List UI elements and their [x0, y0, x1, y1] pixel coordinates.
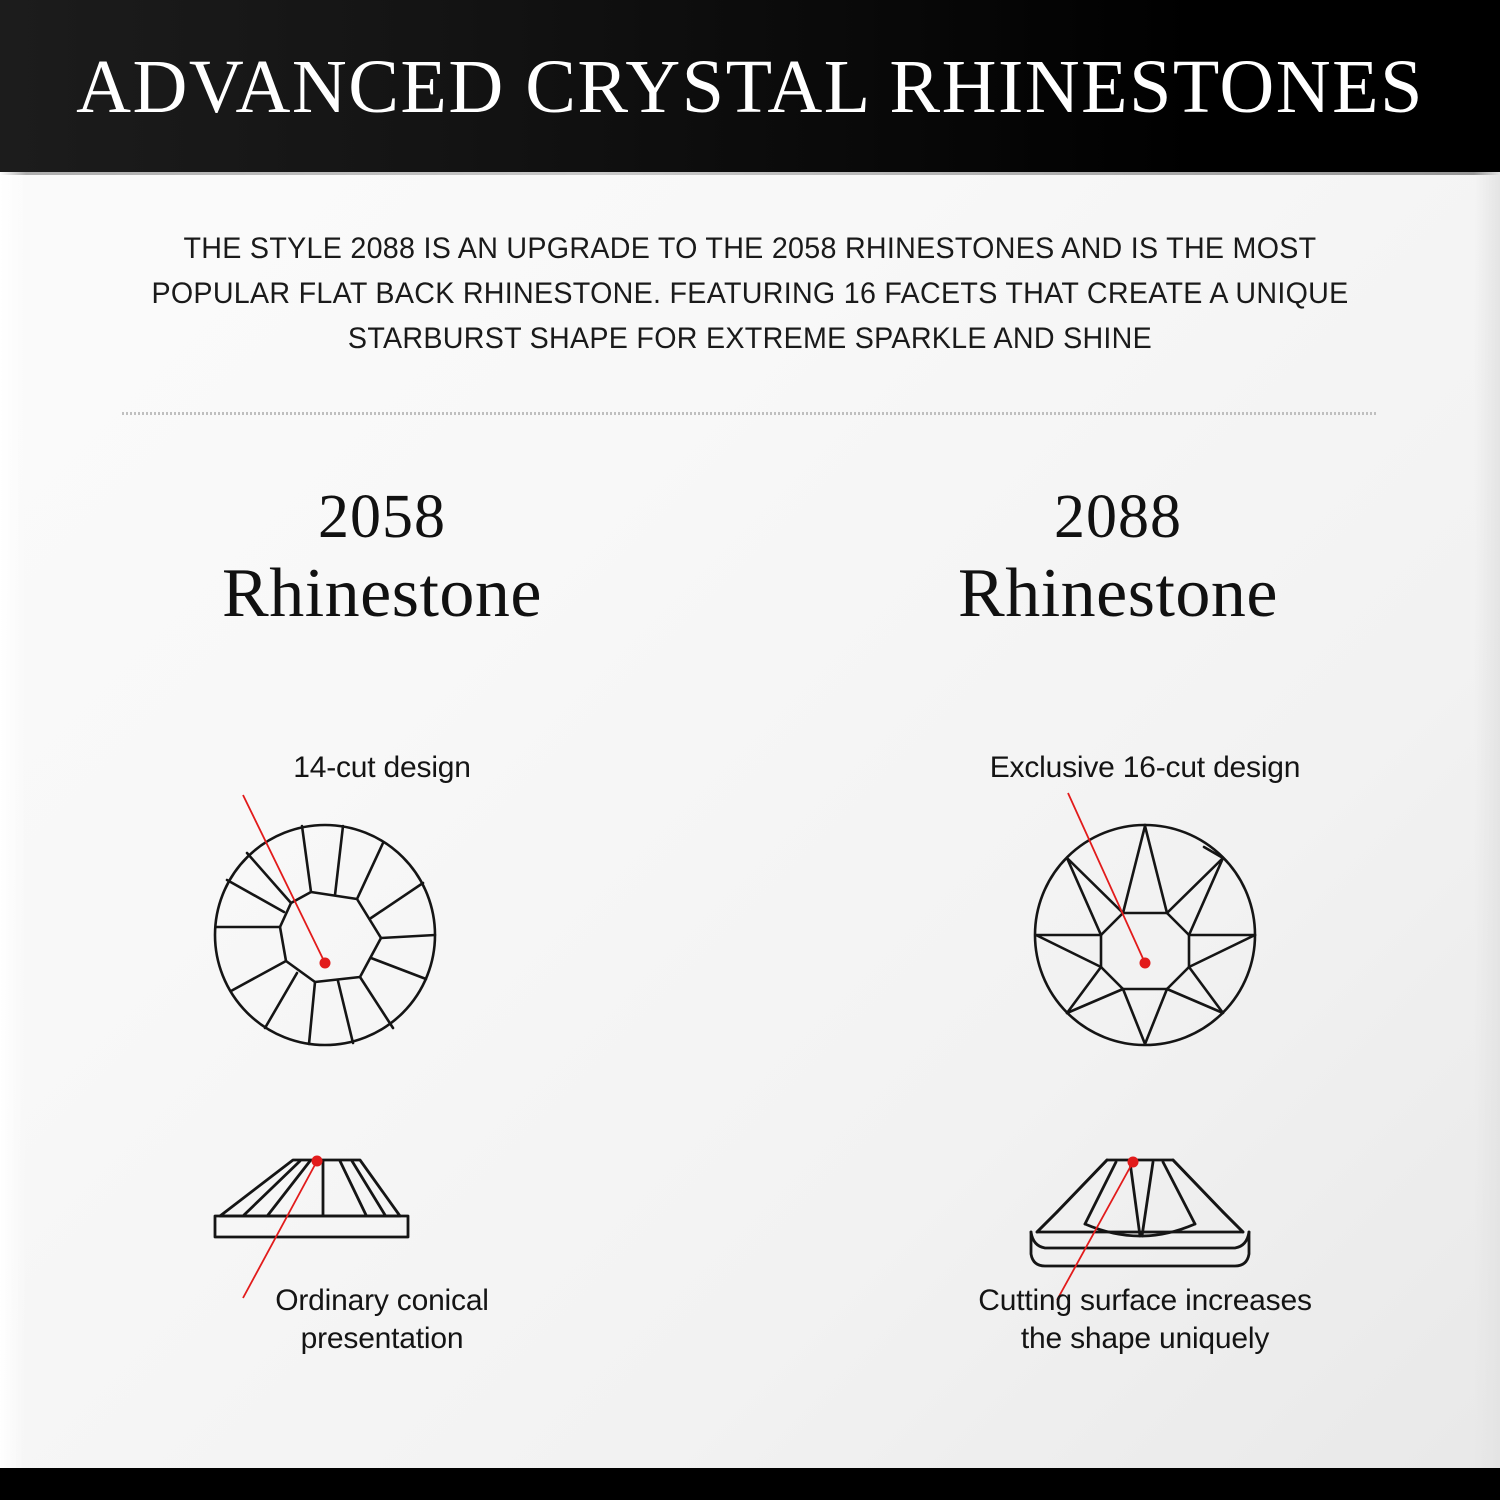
- caption-2058: Ordinary conical presentation: [72, 1282, 692, 1358]
- figure-2058-top-view: [185, 785, 475, 1065]
- caption-2058-line1: Ordinary conical: [275, 1284, 489, 1317]
- figure-2088-top-view: [1005, 785, 1295, 1065]
- column-2088-heading-word: Rhinestone: [808, 554, 1428, 634]
- dome-outline: [1037, 1160, 1243, 1232]
- star-point-s: [1123, 989, 1167, 1044]
- star-point-ne: [1167, 858, 1223, 935]
- star-point-n: [1123, 826, 1167, 913]
- caption-2088: Cutting surface increases the shape uniq…: [835, 1282, 1455, 1358]
- column-2058-heading-number: 2058: [72, 480, 692, 554]
- pointer-dot-2058-top: [320, 958, 331, 969]
- right-edge-fade: [1474, 172, 1500, 1468]
- column-2088-heading-number: 2088: [808, 480, 1428, 554]
- pointer-line-2088-top: [1068, 793, 1145, 963]
- pointer-line-2058-top: [243, 795, 325, 963]
- cone-outline: [220, 1160, 400, 1216]
- base-slab: [215, 1216, 408, 1237]
- column-2088-heading: 2088 Rhinestone: [808, 480, 1428, 634]
- star-point-e: [1189, 935, 1255, 967]
- dotted-divider: [122, 412, 1378, 415]
- pointer-dot-2088-side: [1128, 1157, 1139, 1168]
- star-point-w: [1036, 935, 1101, 967]
- star-point-se: [1167, 967, 1223, 1013]
- pointer-dot-2088-top: [1140, 958, 1151, 969]
- column-2058: 2058 Rhinestone: [72, 480, 692, 634]
- label-16-cut-design: Exclusive 16-cut design: [835, 750, 1455, 786]
- left-edge-fade: [0, 172, 26, 1468]
- star-point-sw: [1067, 967, 1123, 1013]
- caption-2088-line1: Cutting surface increases: [978, 1284, 1312, 1317]
- label-14-cut-design: 14-cut design: [72, 750, 692, 786]
- pointer-dot-2058-side: [312, 1156, 323, 1167]
- inner-facet-polygon: [280, 892, 381, 982]
- footer-band: [0, 1468, 1500, 1500]
- outer-circle: [215, 825, 435, 1045]
- caption-2088-line2: the shape uniquely: [1021, 1322, 1269, 1355]
- column-2088: 2088 Rhinestone: [808, 480, 1428, 634]
- inner-facet-polygon: [1101, 913, 1189, 989]
- page-title: ADVANCED CRYSTAL RHINESTONES: [0, 44, 1500, 130]
- intro-paragraph: THE STYLE 2088 IS AN UPGRADE TO THE 2058…: [148, 226, 1351, 361]
- caption-2058-line2: presentation: [301, 1322, 464, 1355]
- infographic-page: ADVANCED CRYSTAL RHINESTONES THE STYLE 2…: [0, 0, 1500, 1500]
- header-underline: [0, 172, 1500, 175]
- column-2058-heading: 2058 Rhinestone: [72, 480, 692, 634]
- column-2058-heading-word: Rhinestone: [72, 554, 692, 634]
